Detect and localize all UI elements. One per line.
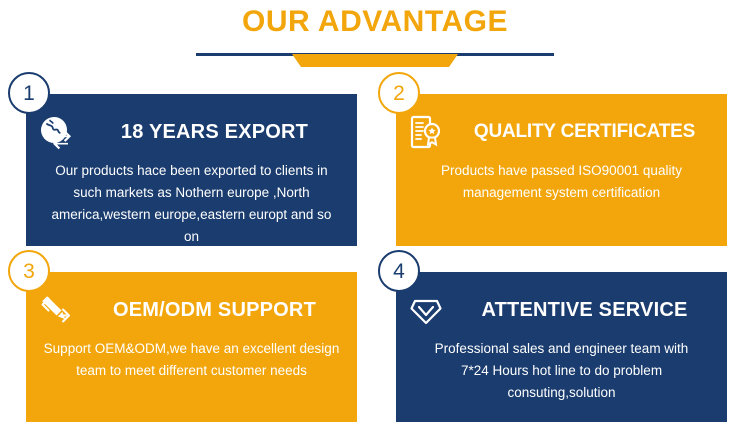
card-number-badge: 2 [378, 72, 420, 114]
card-head: 18 YEARS EXPORT [26, 108, 357, 156]
card-title: QUALITY CERTIFICATES [452, 120, 717, 144]
card-head: OEM/ODM SUPPORT [26, 286, 357, 334]
card-body: Support OEM&ODM,we have an excellent des… [26, 334, 357, 382]
advantage-card-grid: 1 18 YEARS EXPORT Our products hace been… [0, 86, 750, 438]
divider-accent-trapezoid [292, 54, 458, 67]
pencil-ruler-icon [36, 290, 76, 330]
card-title: OEM/ODM SUPPORT [82, 298, 347, 322]
globe-exchange-icon [36, 112, 76, 152]
card-body: Professional sales and engineer team wit… [396, 334, 727, 404]
card-head: ATTENTIVE SERVICE [396, 286, 727, 334]
advantage-card-2[interactable]: 2 QUALITY CERTIFICATES Products have pas… [396, 94, 727, 246]
page-title: OUR ADVANTAGE [0, 4, 750, 40]
certificate-award-icon [406, 112, 446, 152]
card-body: Our products hace been exported to clien… [26, 156, 357, 248]
card-number-badge: 1 [8, 72, 50, 114]
advantage-card-4[interactable]: 4 ATTENTIVE SERVICE Professional sales a… [396, 272, 727, 422]
card-body: Products have passed ISO90001 quality ma… [396, 156, 727, 204]
advantage-card-3[interactable]: 3 OEM/ODM SUP [26, 272, 357, 422]
card-title: ATTENTIVE SERVICE [452, 298, 717, 322]
diamond-check-icon [406, 290, 446, 330]
card-number-badge: 3 [8, 250, 50, 292]
divider [196, 53, 554, 69]
card-head: QUALITY CERTIFICATES [396, 108, 727, 156]
header: OUR ADVANTAGE [0, 0, 750, 78]
card-title: 18 YEARS EXPORT [82, 120, 347, 144]
card-number-badge: 4 [378, 250, 420, 292]
advantage-card-1[interactable]: 1 18 YEARS EXPORT Our products hace been… [26, 94, 357, 246]
